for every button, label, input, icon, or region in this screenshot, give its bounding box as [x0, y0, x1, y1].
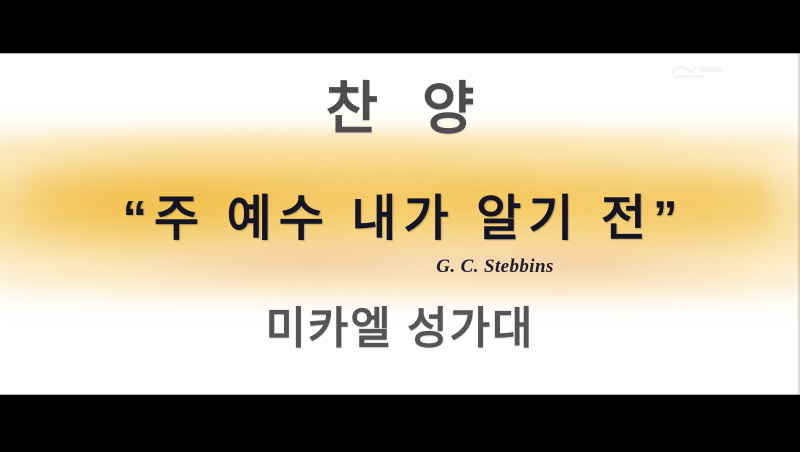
letterbox-bar-bottom [0, 395, 800, 452]
slide-text-layer: 찬 양 “주 예수 내가 알기 전” G. C. Stebbins 미카엘 성가… [0, 53, 800, 395]
title-slide: 찬 양 “주 예수 내가 알기 전” G. C. Stebbins 미카엘 성가… [0, 53, 800, 395]
choir-name: 미카엘 성가대 [0, 305, 800, 353]
video-frame: 찬 양 “주 예수 내가 알기 전” G. C. Stebbins 미카엘 성가… [0, 0, 800, 452]
hymn-title: “주 예수 내가 알기 전” [0, 193, 800, 247]
section-heading-praise: 찬 양 [0, 79, 800, 141]
letterbox-bar-top [0, 0, 800, 53]
composer-credit: G. C. Stebbins [0, 256, 800, 278]
